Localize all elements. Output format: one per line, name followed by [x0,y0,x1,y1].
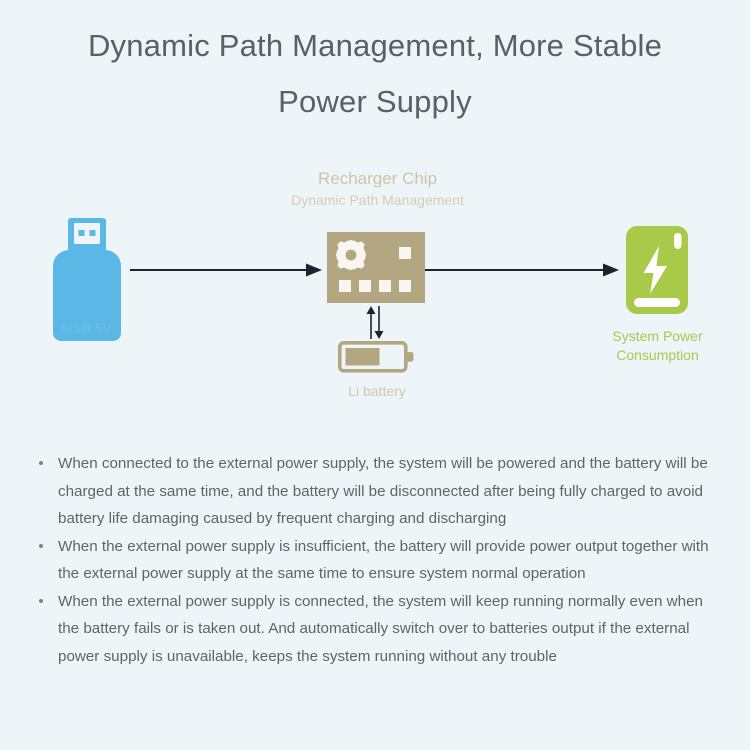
li-battery-icon [338,341,414,377]
li-battery-label: Li battery [312,383,442,399]
bullet-dot-icon [39,599,43,603]
system-power-label-line1: System Power [612,328,702,344]
arrow-chip-to-system-power [425,258,619,282]
list-item: When the external power supply is insuff… [34,533,724,588]
list-item: When connected to the external power sup… [34,450,724,533]
arrow-usb-to-chip [130,258,322,282]
power-path-diagram: Recharger Chip Dynamic Path Management U… [0,0,750,430]
bullet-dot-icon [39,544,43,548]
system-power-icon [626,226,688,314]
list-item-text: When the external power supply is connec… [58,593,703,665]
bidirectional-arrow-chip-battery [360,306,390,339]
recharger-chip-icon [327,232,425,303]
chip-caption-subtitle: Dynamic Path Management [255,190,500,210]
system-power-label: System Power Consumption [585,327,730,365]
chip-caption: Recharger Chip Dynamic Path Management [255,168,500,210]
list-item-text: When connected to the external power sup… [58,455,708,527]
bullet-dot-icon [39,461,43,465]
feature-bullet-list: When connected to the external power sup… [34,450,724,670]
chip-caption-title: Recharger Chip [255,168,500,190]
list-item-text: When the external power supply is insuff… [58,538,709,583]
list-item: When the external power supply is connec… [34,588,724,671]
system-power-label-line2: Consumption [616,347,699,363]
usb-label: USB 5V [22,320,152,336]
